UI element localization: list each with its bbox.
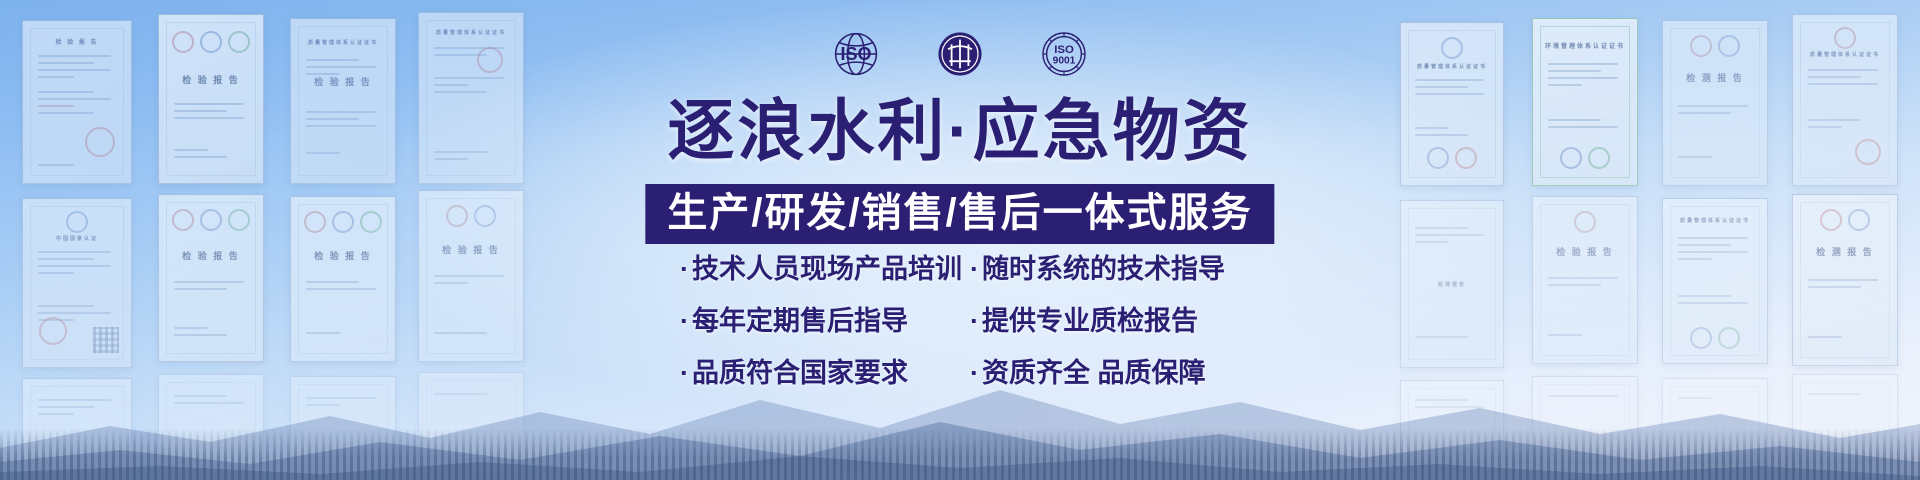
feature-item: ·随时系统的技术指导 xyxy=(970,254,1240,286)
bullet-icon: · xyxy=(680,254,689,284)
bullet-icon: · xyxy=(970,254,979,284)
svg-text:ISO: ISO xyxy=(1054,44,1074,56)
bullet-icon: · xyxy=(970,306,979,336)
banner-content: ISO ISO xyxy=(0,0,1920,480)
svg-text:9001: 9001 xyxy=(1053,56,1076,67)
quality-emblem-badge xyxy=(930,24,990,84)
bullet-icon: · xyxy=(970,358,979,388)
feature-label: 每年定期售后指导 xyxy=(692,306,908,336)
feature-label: 品质符合国家要求 xyxy=(692,358,908,388)
bullet-icon: · xyxy=(680,358,689,388)
page-title: 逐浪水利·应急物资 xyxy=(667,98,1252,165)
certification-badges: ISO ISO xyxy=(826,24,1094,84)
promo-banner: 检 验 报 告 检 验 报 告 质量管理体系认证证书 检 验 报 告 质量管理体… xyxy=(0,0,1920,480)
feature-label: 提供专业质检报告 xyxy=(982,306,1198,336)
subtitle-text: 生产/研发/销售/售后一体式服务 xyxy=(667,193,1252,233)
feature-item: ·每年定期售后指导 xyxy=(680,306,970,338)
iso-globe-badge: ISO xyxy=(826,24,886,84)
feature-item: ·技术人员现场产品培训 xyxy=(680,254,970,286)
feature-item: ·品质符合国家要求 xyxy=(680,358,970,390)
feature-label: 资质齐全 品质保障 xyxy=(982,358,1206,388)
iso-9001-badge: ISO 9001 xyxy=(1034,24,1094,84)
feature-item: ·提供专业质检报告 xyxy=(970,306,1240,338)
feature-label: 技术人员现场产品培训 xyxy=(692,254,962,284)
feature-label: 随时系统的技术指导 xyxy=(982,254,1225,284)
feature-item: ·资质齐全 品质保障 xyxy=(970,358,1240,390)
feature-list: ·技术人员现场产品培训 ·随时系统的技术指导 ·每年定期售后指导 ·提供专业质检… xyxy=(680,254,1240,390)
bullet-icon: · xyxy=(680,306,689,336)
subtitle-bar: 生产/研发/销售/售后一体式服务 xyxy=(645,184,1274,244)
svg-text:ISO: ISO xyxy=(840,44,871,64)
